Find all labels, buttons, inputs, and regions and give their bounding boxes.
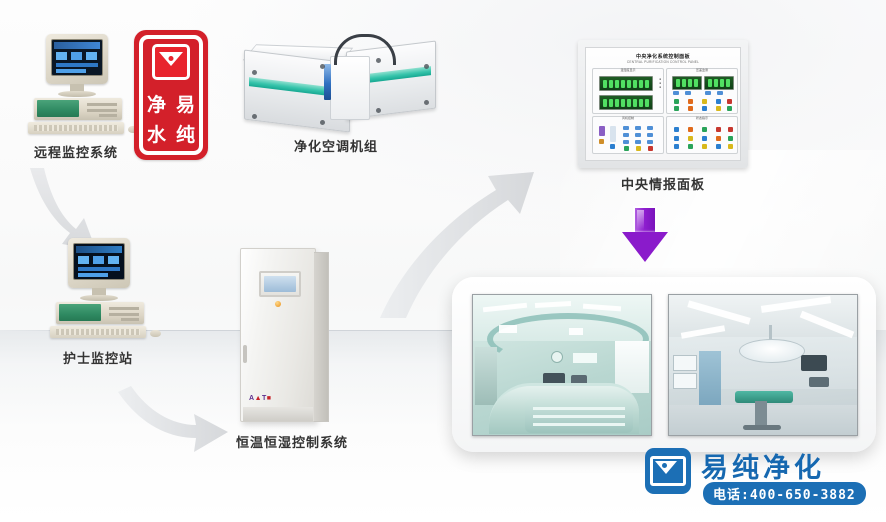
yichun-logo-icon <box>645 448 691 494</box>
node-nurse-station[interactable]: 护士监控站 <box>46 238 150 342</box>
cabinet-body: A▲T■ <box>240 248 316 422</box>
door-handle <box>243 345 247 363</box>
mouse-icon <box>150 330 161 337</box>
photo-card <box>452 277 876 452</box>
computer-tower <box>56 302 144 324</box>
lcd-display-1 <box>599 76 653 91</box>
seal-char-2: 易 <box>176 96 195 115</box>
node-label-central-panel: 中央情报面板 <box>621 174 705 193</box>
down-arrow <box>622 208 668 262</box>
panel-face: 中央净化系统控制面板 CENTRAL PURIFICATION CONTROL … <box>585 47 741 161</box>
node-label-remote-monitoring: 远程监控系统 <box>34 142 118 161</box>
brand-name: 易纯净化 <box>701 446 825 485</box>
monitor <box>46 34 108 84</box>
nurse-station-photo[interactable] <box>472 294 652 436</box>
computer-tower <box>34 98 122 120</box>
seal-char-1: 净 <box>147 96 166 115</box>
panel-quadrant-1: 温湿度显示 ■■■ <box>592 68 664 114</box>
panel-quadrant-3: 风机控制 <box>592 116 664 154</box>
node-ahu[interactable]: 净化空调机组 <box>238 34 434 139</box>
status-led <box>275 301 281 307</box>
diagram-canvas: 远程监控系统 净 易 水 纯 护士监控 <box>0 0 886 522</box>
node-central-panel[interactable]: 中央净化系统控制面板 CENTRAL PURIFICATION CONTROL … <box>578 40 748 168</box>
brand-phone: 电话:400-650-3882 <box>703 482 866 505</box>
hose-icon <box>334 34 396 65</box>
control-cabinet-icon: A▲T■ <box>240 248 328 428</box>
control-panel-icon: 中央净化系统控制面板 CENTRAL PURIFICATION CONTROL … <box>578 40 748 168</box>
keyboard-icon <box>28 122 124 134</box>
brand-footer: 易纯净化 电话:400-650-3882 <box>645 446 883 512</box>
screen <box>73 243 125 280</box>
panel-title: 中央净化系统控制面板 <box>586 53 740 60</box>
desktop-computer-icon <box>24 34 128 138</box>
cabinet-brand-mark: A▲T■ <box>249 395 272 402</box>
seal-char-3: 水 <box>147 126 166 145</box>
monitor <box>68 238 130 288</box>
desktop-computer-icon <box>46 238 150 342</box>
keyboard-icon <box>50 326 146 338</box>
node-remote-monitoring[interactable]: 远程监控系统 <box>24 34 128 138</box>
panel-quadrant-4: 状态指示 <box>666 116 738 154</box>
air-handling-unit-icon <box>238 34 434 139</box>
hmi-display <box>259 271 301 297</box>
node-label-nurse-station: 护士监控站 <box>63 348 133 367</box>
panel-quadrant-2: 压差监测 <box>666 68 738 114</box>
red-seal-stamp: 净 易 水 纯 <box>134 30 208 160</box>
screen <box>51 39 103 76</box>
lcd-display-4 <box>704 76 734 90</box>
panel-side-legend: ■■■ <box>659 78 661 90</box>
lcd-display-3 <box>672 76 702 90</box>
operating-room-photo[interactable] <box>668 294 858 436</box>
node-label-ahu: 净化空调机组 <box>294 136 378 155</box>
node-humidity-cabinet[interactable]: A▲T■ 恒温恒湿控制系统 <box>240 248 328 428</box>
panel-subtitle: CENTRAL PURIFICATION CONTROL PANEL <box>586 60 740 64</box>
seal-char-4: 纯 <box>176 126 195 145</box>
node-label-humidity-cabinet: 恒温恒湿控制系统 <box>236 432 348 451</box>
arrow-nurse-to-cabinet <box>118 386 228 452</box>
lcd-display-2 <box>599 95 653 110</box>
